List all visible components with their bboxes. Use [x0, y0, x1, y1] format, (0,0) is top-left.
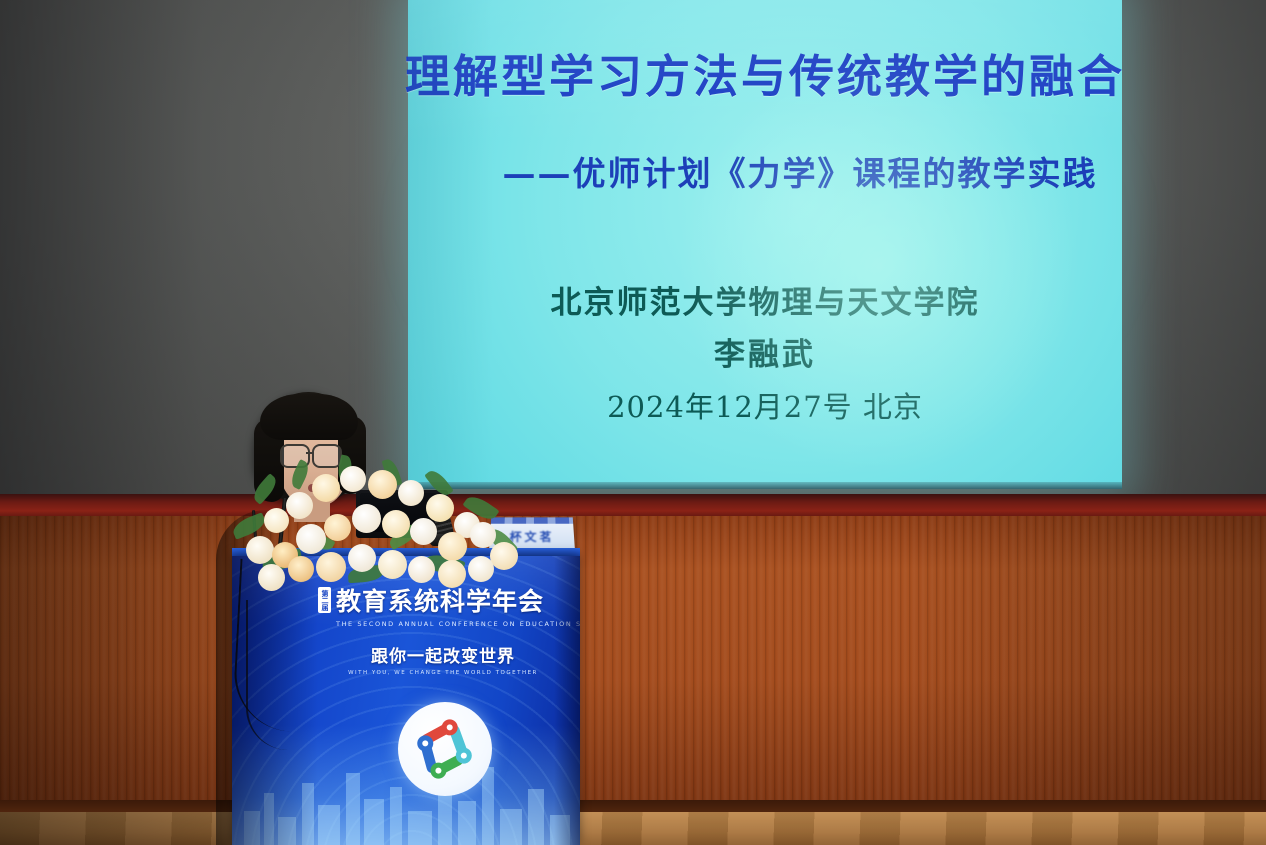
tagline-cn: 跟你一起改变世界 — [318, 642, 568, 667]
slide-presenter: 李融武 — [551, 331, 980, 379]
podium-banner: 第二届 教育系统科学年会 THE SECOND ANNUAL CONFERENC… — [318, 582, 568, 676]
presentation-slide: 理解型学习方法与传统教学的融合 ——优师计划《力学》课程的教学实践 北京师范大学… — [408, 0, 1122, 489]
slide-date-location: 2024年12月27号 北京 — [551, 385, 980, 430]
conference-name-en: THE SECOND ANNUAL CONFERENCE ON EDUCATIO… — [336, 620, 568, 628]
slide-title: 理解型学习方法与传统教学的融合 — [405, 40, 1125, 105]
wall-trim-band — [0, 494, 1266, 518]
wainscot-right-shadow — [906, 516, 1266, 814]
projection-screen: 理解型学习方法与传统教学的融合 ——优师计划《力学》课程的教学实践 北京师范大学… — [408, 0, 1122, 489]
floral-arrangement — [228, 456, 528, 596]
speaker-fringe — [260, 394, 358, 440]
slide-subtitle: ——优师计划《力学》课程的教学实践 — [503, 147, 1098, 195]
slide-body: 北京师范大学物理与天文学院 李融武 2024年12月27号 北京 — [551, 279, 980, 430]
glasses-bridge — [306, 452, 314, 454]
network-node-logo — [398, 702, 492, 796]
slide-organization: 北京师范大学物理与天文学院 — [551, 279, 980, 327]
podium-right-edge — [554, 556, 580, 845]
tagline-en: WITH YOU, WE CHANGE THE WORLD TOGETHER — [318, 670, 568, 676]
conference-photo-scene: 理解型学习方法与传统教学的融合 ——优师计划《力学》课程的教学实践 北京师范大学… — [0, 0, 1266, 845]
microphone-cable-2 — [246, 600, 288, 750]
